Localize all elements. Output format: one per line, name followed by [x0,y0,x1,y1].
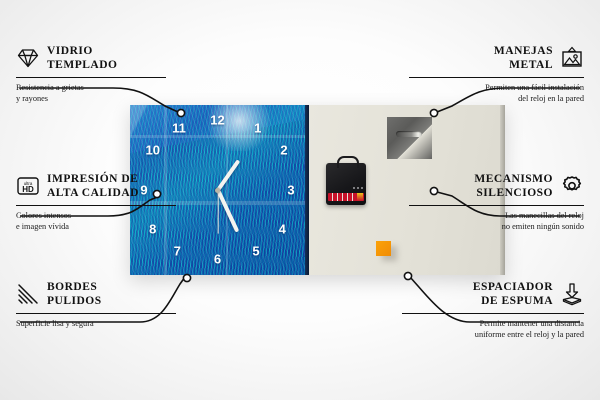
mechanism-red-label [328,193,364,201]
ultra-hd-icon: ultra HD [16,174,40,198]
clock-numeral-12: 12 [210,114,224,127]
clock-numeral-3: 3 [287,184,294,197]
feature-rule [402,313,584,314]
clock-numeral-5: 5 [252,245,259,258]
feature-rule [16,77,166,78]
feature-title-line1: VIDRIO [47,44,117,58]
feature-rule [16,313,176,314]
second-hand [217,190,218,234]
feature-heading: ultra HD IMPRESIÓN DE ALTA CALIDAD [16,172,176,201]
orange-foam-spacer [376,241,391,256]
feature-title-line2: DE ESPUMA [473,294,553,308]
feature-rule [409,77,584,78]
feature-title-line1: IMPRESIÓN DE [47,172,139,186]
svg-text:HD: HD [22,185,34,194]
feature-subtitle: Permiten una fácil instalación del reloj… [409,82,584,104]
feature-title-line1: BORDES [47,280,102,294]
feature-vidrio-templado[interactable]: VIDRIO TEMPLADO Resistencia a grietas y … [16,44,166,105]
feature-manejas-metal[interactable]: MANEJAS METAL Permiten una fácil instala… [409,44,584,105]
feature-title-line1: ESPACIADOR [473,280,553,294]
framed-picture-hanger-icon [560,46,584,70]
feature-bordes-pulidos[interactable]: BORDES PULIDOS Superficie lisa y segura [16,280,176,329]
feature-title-line2: ALTA CALIDAD [47,186,139,200]
infographic-canvas: 12 1 2 3 4 5 6 7 8 9 10 11 [0,0,600,400]
metal-hanger-plate [387,117,432,159]
feature-title-line2: METAL [494,58,553,72]
feature-heading: MECANISMO SILENCIOSO [409,172,584,201]
feature-heading: ESPACIADOR DE ESPUMA [402,280,584,309]
feature-subtitle: Colores intensos e imagen vívida [16,210,176,232]
feature-subtitle: Resistencia a grietas y rayones [16,82,166,104]
clock-numeral-11: 11 [172,122,186,135]
polished-edge-icon [16,282,40,306]
feature-title-line2: PULIDOS [47,294,102,308]
diamond-icon [16,46,40,70]
clock-numeral-6: 6 [214,253,221,266]
clock-numeral-2: 2 [280,144,287,157]
feature-heading: VIDRIO TEMPLADO [16,44,166,73]
feature-title-line2: SILENCIOSO [474,186,553,200]
feature-title-line1: MECANISMO [474,172,553,186]
feature-subtitle: Superficie lisa y segura [16,318,176,329]
clock-numeral-4: 4 [279,223,286,236]
connector-dot-bordes [183,274,190,281]
gear-icon [560,174,584,198]
feature-espaciador-de-espuma[interactable]: ESPACIADOR DE ESPUMA Permite mantener un… [402,280,584,341]
clock-numeral-1: 1 [254,122,261,135]
foam-spacer-arrow-icon [560,282,584,306]
feature-subtitle: Las manecillas del reloj no emiten ningú… [409,210,584,232]
hour-hand [216,159,240,191]
feature-rule [16,205,176,206]
mechanism-hanging-loop [337,156,359,168]
mechanism-markings [353,187,363,189]
hanger-slot [396,131,422,137]
quartz-mechanism-box [326,163,366,205]
feature-mecanismo-silencioso[interactable]: MECANISMO SILENCIOSO Las manecillas del … [409,172,584,233]
feature-rule [409,205,584,206]
clock-center-pivot [215,188,220,193]
clock-numeral-10: 10 [146,144,160,157]
feature-impresion-alta-calidad[interactable]: ultra HD IMPRESIÓN DE ALTA CALIDAD Color… [16,172,176,233]
feature-heading: BORDES PULIDOS [16,280,176,309]
feature-subtitle: Permite mantener una distancia uniforme … [402,318,584,340]
minute-hand [216,189,239,232]
clock-numeral-7: 7 [174,245,181,258]
feature-heading: MANEJAS METAL [409,44,584,73]
feature-title-line2: TEMPLADO [47,58,117,72]
feature-title-line1: MANEJAS [494,44,553,58]
